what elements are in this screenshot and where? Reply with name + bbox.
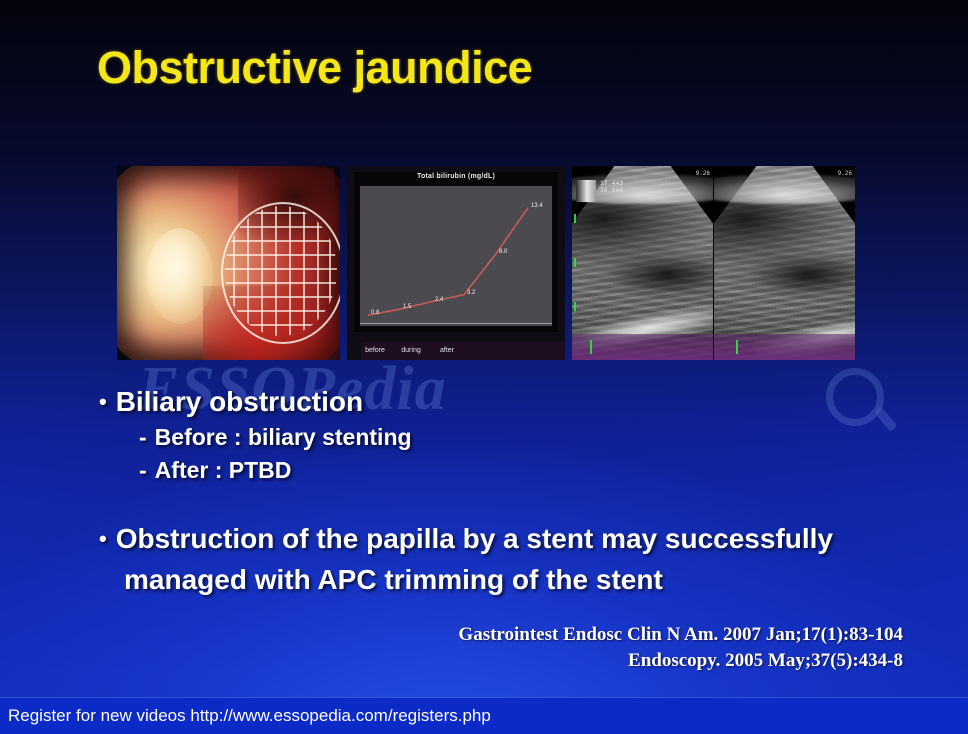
citation-line-2: Endoscopy. 2005 May;37(5):434-8 [458, 648, 903, 674]
chart-x-tick-label: after [440, 347, 454, 354]
abdominal-ultrasound-pair: 17 44330 948 9.26 9.26 [572, 166, 855, 360]
bullet-level1-text-line2: managed with APC trimming of the stent [124, 564, 663, 595]
bilirubin-line-chart: Total bilirubin (mg/dL) 0.81.52.43.28.01… [347, 166, 565, 360]
bullet-level2-text: After : PTBD [155, 457, 292, 483]
bullet-level1: •Biliary obstruction [99, 385, 899, 419]
footer-bar: Register for new videos http://www.essop… [0, 697, 968, 734]
stent-outline [221, 202, 340, 344]
chart-point-label: 1.5 [403, 304, 411, 310]
chart-point-label: 3.2 [467, 290, 475, 296]
ultrasound-panel-right: 9.26 [714, 166, 855, 360]
chart-point-label: 8.0 [499, 249, 507, 255]
bullet-level2-text: Before : biliary stenting [155, 424, 412, 450]
bullet-level1-text-line1: Obstruction of the papilla by a stent ma… [116, 523, 833, 554]
ultrasound-capsule-band [714, 174, 855, 204]
ultrasound-corner-label: 9.26 [838, 170, 852, 177]
bullet-list: •Biliary obstruction -Before : biliary s… [99, 385, 899, 602]
chart-plot-area: 0.81.52.43.28.013.4 [360, 186, 552, 326]
page-title: Obstructive jaundice [97, 42, 532, 94]
ultrasound-color-strip [572, 334, 713, 360]
ultrasound-grayscale-bar [576, 180, 596, 202]
bullet-dash-glyph: - [139, 457, 147, 483]
chart-series-line [360, 186, 552, 326]
ultrasound-corner-label: 9.26 [696, 170, 710, 177]
chart-frame: Total bilirubin (mg/dL) 0.81.52.43.28.01… [354, 172, 558, 332]
chart-x-tick-label: during [401, 347, 420, 354]
figure-strip: Total bilirubin (mg/dL) 0.81.52.43.28.01… [117, 166, 855, 360]
ultrasound-depth-tick [574, 302, 576, 311]
bullet-dash-glyph: - [139, 424, 147, 450]
chart-point-label: 2.4 [435, 297, 443, 303]
ultrasound-depth-tick [574, 214, 576, 223]
bullet-glyph: • [99, 526, 107, 551]
citation-line-1: Gastrointest Endosc Clin N Am. 2007 Jan;… [458, 622, 903, 648]
ultrasound-depth-tick [736, 340, 738, 354]
presentation-slide: Obstructive jaundice ESSOPedia [0, 0, 968, 734]
citation-block: Gastrointest Endosc Clin N Am. 2007 Jan;… [458, 622, 903, 674]
bullet-level2: -Before : biliary stenting [139, 421, 899, 454]
ultrasound-depth-tick [574, 258, 576, 267]
ultrasound-panel-left: 17 44330 948 9.26 [572, 166, 713, 360]
chart-point-label: 0.8 [371, 310, 379, 316]
endoscopic-image-biliary-stent [117, 166, 340, 360]
bullet-level2: -After : PTBD [139, 454, 899, 487]
chart-point-label: 13.4 [531, 203, 543, 209]
bullet-level1: •Obstruction of the papilla by a stent m… [99, 520, 899, 559]
chart-x-tick-label: before [365, 347, 385, 354]
bullet-block-2: •Obstruction of the papilla by a stent m… [99, 520, 899, 599]
bullet-level1-continuation: managed with APC trimming of the stent [124, 561, 899, 600]
chart-x-axis-labels: beforeduringafter [361, 342, 565, 360]
chart-title: Total bilirubin (mg/dL) [354, 173, 558, 180]
footer-register-text[interactable]: Register for new videos http://www.essop… [8, 706, 491, 726]
ultrasound-overlay-text: 17 44330 948 [600, 180, 623, 194]
ultrasound-depth-tick [590, 340, 592, 354]
bullet-block-1: •Biliary obstruction -Before : biliary s… [99, 385, 899, 486]
bullet-level1-text: Biliary obstruction [116, 386, 363, 417]
bullet-glyph: • [99, 389, 107, 414]
